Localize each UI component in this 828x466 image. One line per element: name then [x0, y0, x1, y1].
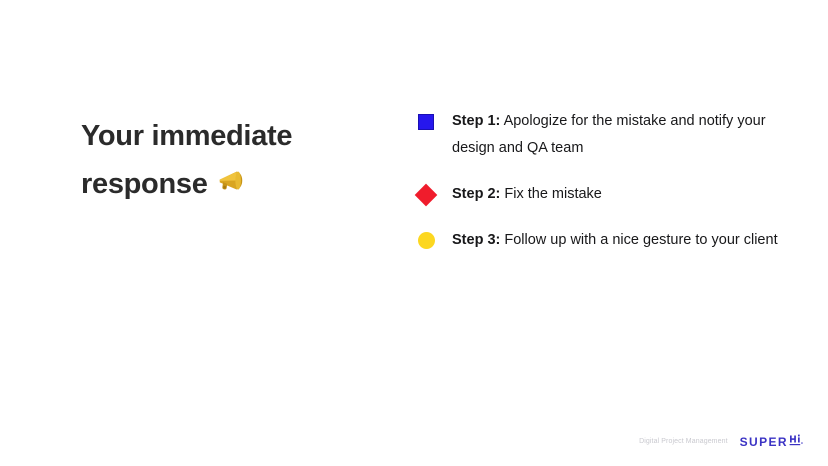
red-diamond-icon: [418, 181, 452, 208]
megaphone-emoji: [214, 163, 248, 193]
step-text: Step 1: Apologize for the mistake and no…: [452, 108, 790, 162]
title-line-2: response: [81, 160, 381, 208]
step-body: Apologize for the mistake and notify you…: [452, 113, 766, 156]
list-item: Step 2: Fix the mistake: [418, 181, 790, 208]
step-body: Fix the mistake: [500, 186, 602, 202]
superhi-logo: SUPER: [740, 434, 804, 448]
yellow-circle-icon: [418, 227, 452, 254]
presentation-slide: Your immediate response Step 1: Apologi: [0, 0, 828, 466]
title-line-2-text: response: [81, 168, 208, 200]
step-body: Follow up with a nice gesture to your cl…: [500, 232, 777, 248]
title-line-1: Your immediate: [81, 112, 381, 160]
page-title: Your immediate response: [81, 112, 381, 208]
list-item: Step 1: Apologize for the mistake and no…: [418, 108, 790, 162]
step-label: Step 3:: [452, 232, 500, 248]
step-text: Step 2: Fix the mistake: [452, 181, 790, 208]
superhi-hi-mark-icon: [789, 434, 804, 448]
blue-square-icon: [418, 108, 452, 135]
footer-caption: Digital Project Management: [639, 438, 728, 445]
brand-wordmark: SUPER: [740, 436, 788, 448]
slide-footer: Digital Project Management SUPER: [639, 434, 804, 448]
steps-list: Step 1: Apologize for the mistake and no…: [418, 108, 790, 254]
title-block: Your immediate response: [81, 112, 381, 208]
list-item: Step 3: Follow up with a nice gesture to…: [418, 227, 790, 254]
step-label: Step 2:: [452, 186, 500, 202]
step-label: Step 1:: [452, 113, 500, 129]
step-text: Step 3: Follow up with a nice gesture to…: [452, 227, 790, 254]
